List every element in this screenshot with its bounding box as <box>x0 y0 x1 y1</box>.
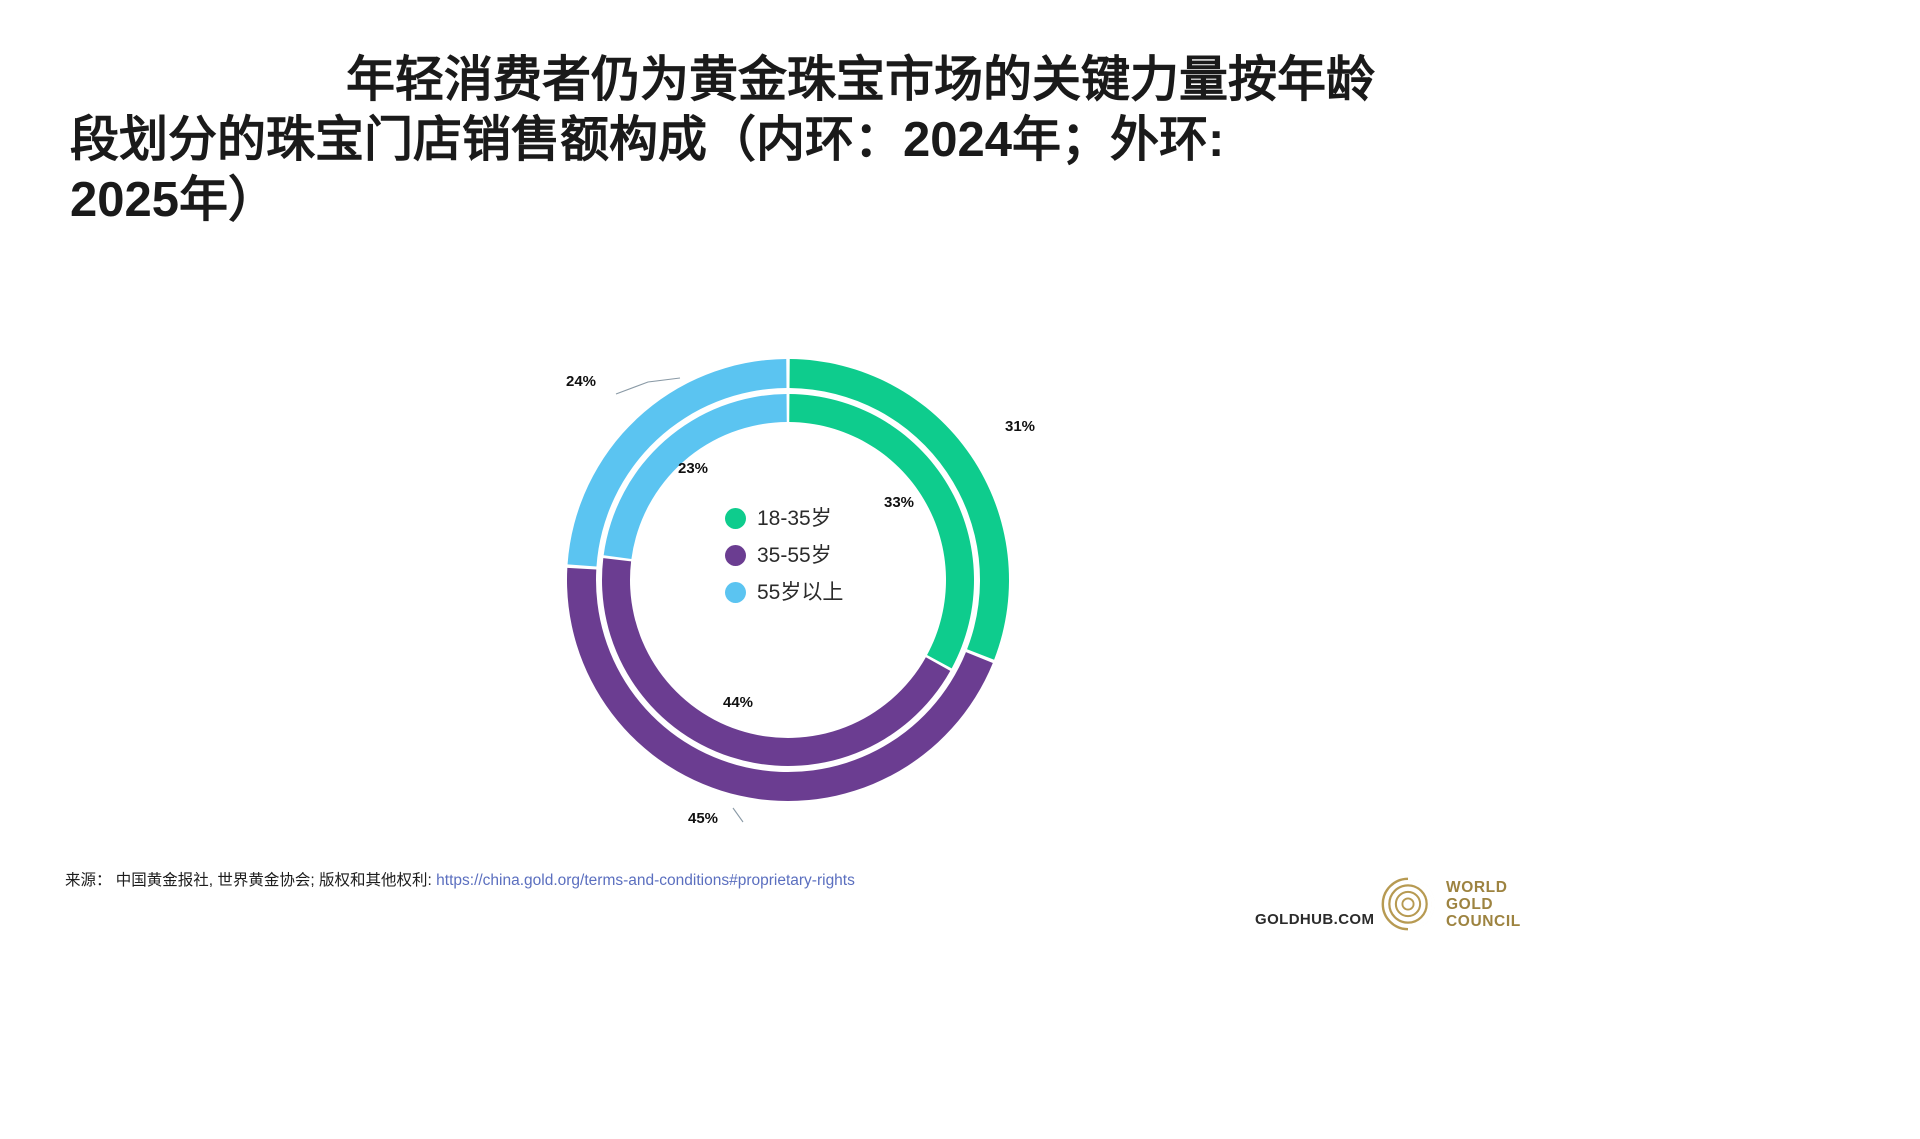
page-title-line-3: 2025年） <box>70 170 1830 230</box>
source-note-link[interactable]: https://china.gold.org/terms-and-conditi… <box>436 872 855 889</box>
pct-label-outer-mid: 45% <box>688 810 718 827</box>
wgc-wordmark-line-2: GOLD <box>1446 896 1521 913</box>
legend-swatch-icon-55-plus <box>725 582 746 603</box>
wgc-ring-icon <box>1380 876 1436 932</box>
pct-label-outer-young: 31% <box>1005 418 1035 435</box>
slide-canvas: 年轻消费者仍为黄金珠宝市场的关键力量按年龄 段划分的珠宝门店销售额构成（内环：2… <box>0 0 1920 1139</box>
page-title-line-1: 年轻消费者仍为黄金珠宝市场的关键力量按年龄 <box>70 50 1830 110</box>
legend-swatch-icon-18-35 <box>725 508 746 529</box>
pct-label-outer-senior: 24% <box>566 373 596 390</box>
legend-label-18-35: 18-35岁 <box>757 508 832 529</box>
leader-line <box>733 808 743 822</box>
legend-label-35-55: 35-55岁 <box>757 545 832 566</box>
legend-item-55-plus[interactable]: 55岁以上 <box>725 574 925 611</box>
source-note: 来源： 中国黄金报社, 世界黄金协会; 版权和其他权利: https://chi… <box>65 868 855 890</box>
wgc-wordmark-line-1: WORLD <box>1446 879 1521 896</box>
wgc-wordmark: WORLD GOLD COUNCIL <box>1446 879 1521 930</box>
legend-item-18-35[interactable]: 18-35岁 <box>725 500 925 537</box>
chart-legend: 18-35岁 35-55岁 55岁以上 <box>725 500 925 611</box>
legend-label-55-plus: 55岁以上 <box>757 582 843 603</box>
goldhub-wordmark: GOLDHUB.COM <box>1255 911 1374 928</box>
source-note-prefix: 来源： 中国黄金报社, 世界黄金协会; 版权和其他权利: <box>65 872 436 889</box>
legend-swatch-icon-35-55 <box>725 545 746 566</box>
wgc-wordmark-line-3: COUNCIL <box>1446 913 1521 930</box>
world-gold-council-logo: WORLD GOLD COUNCIL <box>1380 873 1570 935</box>
page-title-line-2: 段划分的珠宝门店销售额构成（内环：2024年；外环: <box>70 110 1830 170</box>
pct-label-inner-mid: 44% <box>723 694 753 711</box>
page-title: 年轻消费者仍为黄金珠宝市场的关键力量按年龄 段划分的珠宝门店销售额构成（内环：2… <box>70 50 1830 230</box>
legend-item-35-55[interactable]: 35-55岁 <box>725 537 925 574</box>
pct-label-inner-senior: 23% <box>678 460 708 477</box>
leader-line <box>616 378 680 394</box>
